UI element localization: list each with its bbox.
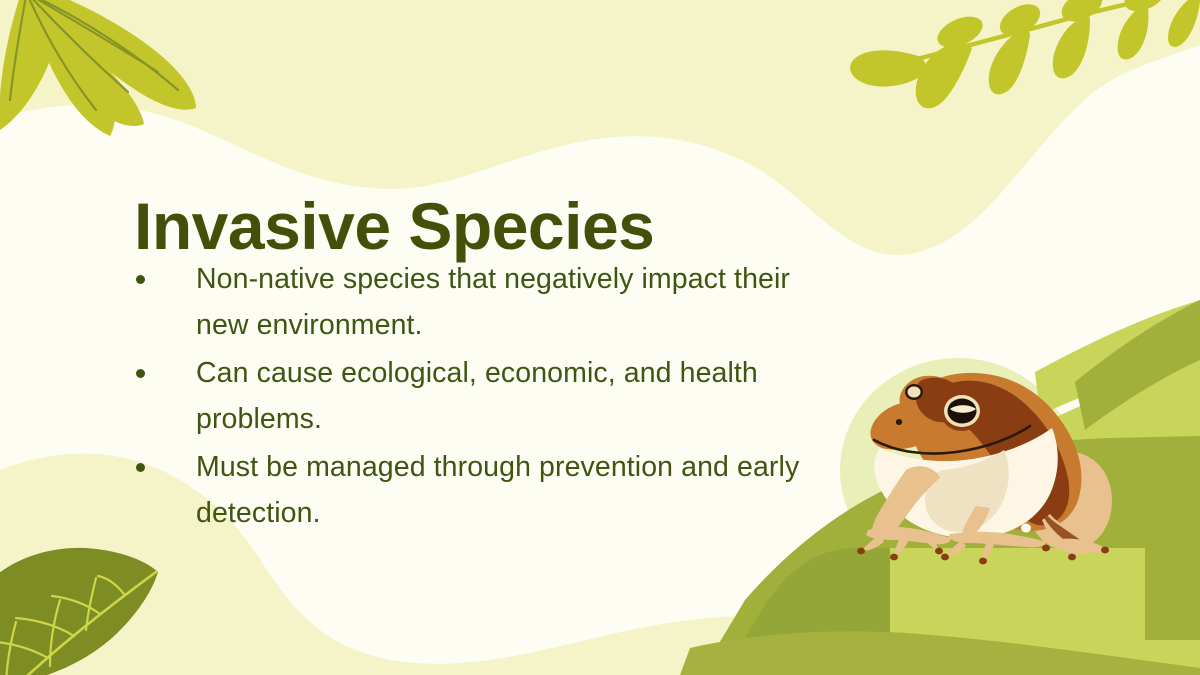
slide-canvas: Invasive Species Non-native species that… xyxy=(0,0,1200,675)
leaf-branch-icon xyxy=(850,0,1200,108)
fan-leaf-icon xyxy=(0,0,196,136)
foliage-decoration xyxy=(0,0,1200,675)
pointed-leaf-icon xyxy=(0,548,158,675)
